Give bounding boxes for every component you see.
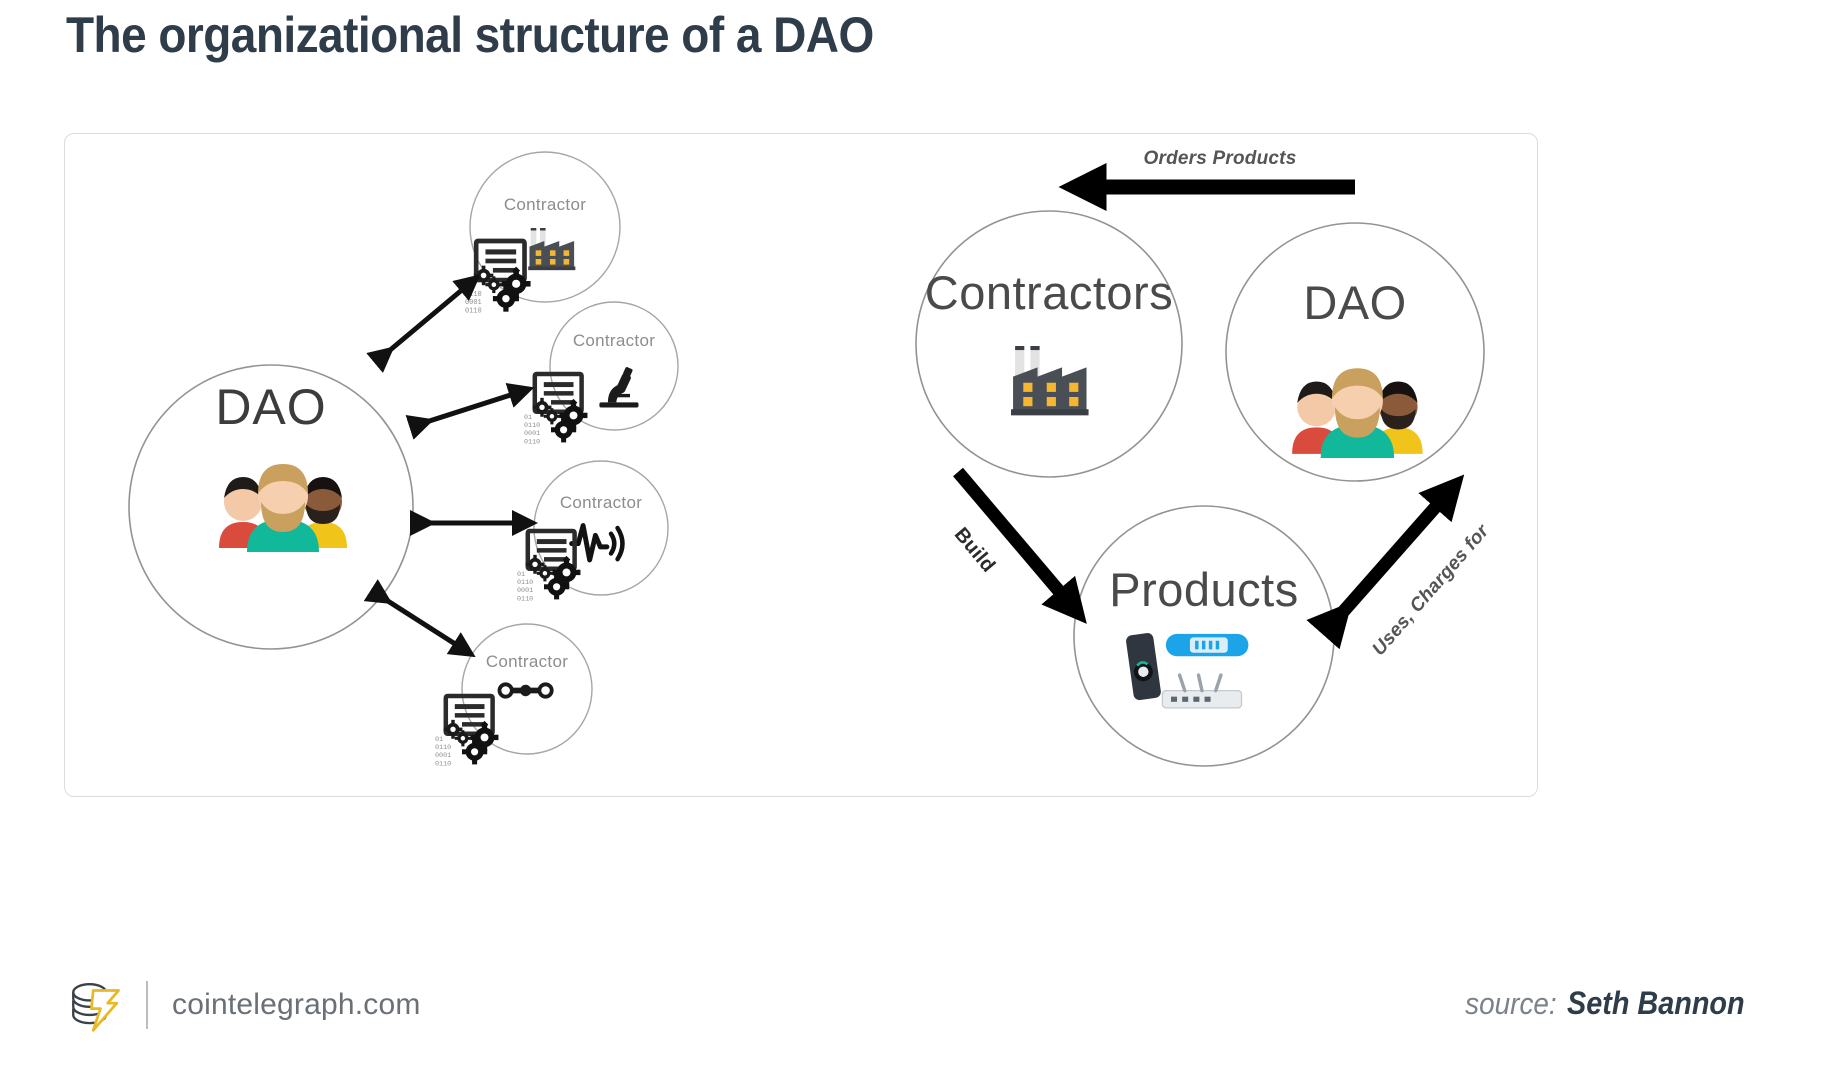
right-factory-icon: [1011, 346, 1089, 415]
car-chassis-icon-4: [499, 684, 551, 696]
uses-charges-label: Uses, Charges for: [1368, 520, 1494, 660]
diagram-canvas: 01 0110 0001 0110: [65, 134, 1539, 798]
left-contractor-label-1: Contractor: [504, 195, 586, 214]
left-contractor-node-3[interactable]: Contractor: [517, 461, 668, 603]
flow-uses-charges: Uses, Charges for: [1335, 494, 1494, 660]
smart-contract-icon-2: [524, 374, 587, 446]
factory-icon-1: [528, 228, 575, 270]
left-contractor-node-2[interactable]: Contractor: [524, 302, 678, 446]
arrow-dao-contractor-2: [420, 392, 520, 424]
left-arrows: [380, 284, 523, 649]
left-dao-people-icon: [219, 464, 347, 552]
right-dao-node[interactable]: DAO: [1226, 223, 1484, 481]
microscope-icon-2: [599, 367, 638, 408]
arrow-dao-contractor-4: [380, 596, 463, 649]
footer: cointelegraph.com source: Seth Bannon: [0, 955, 1828, 1065]
infographic-page: The organizational structure of a DAO: [0, 0, 1828, 1080]
right-products-node[interactable]: Products: [1074, 506, 1334, 766]
cointelegraph-coin-bolt-logo: [66, 976, 124, 1034]
arrow-dao-contractor-1: [383, 284, 469, 356]
source-block: source: Seth Bannon: [1455, 985, 1764, 1022]
brand-url[interactable]: cointelegraph.com: [172, 988, 421, 1022]
signal-icon-3: [572, 526, 623, 560]
right-dao-label: DAO: [1303, 276, 1406, 329]
source-name: Seth Bannon: [1567, 985, 1745, 1022]
right-diagram: Contractors DAO Products: [916, 148, 1494, 766]
footer-divider: [146, 981, 148, 1029]
brand-block[interactable]: cointelegraph.com: [66, 973, 421, 1037]
left-contractor-label-4: Contractor: [486, 652, 568, 671]
right-contractors-node[interactable]: Contractors: [916, 211, 1182, 477]
page-title: The organizational structure of a DAO: [66, 6, 874, 64]
diagram-card: 01 0110 0001 0110: [64, 133, 1538, 797]
left-contractor-label-2: Contractor: [573, 331, 655, 350]
right-products-label: Products: [1109, 563, 1298, 616]
build-label: Build: [950, 524, 1000, 577]
right-contractors-label: Contractors: [925, 266, 1173, 319]
flow-orders-products: Orders Products: [1087, 148, 1355, 187]
orders-products-label: Orders Products: [1144, 148, 1297, 169]
left-diagram: DAO Contractor: [129, 152, 678, 768]
left-contractor-node-1[interactable]: Contractor: [465, 152, 620, 316]
left-dao-label: DAO: [215, 379, 326, 435]
flow-build: Build: [950, 472, 1070, 604]
source-label: source:: [1465, 986, 1557, 1022]
smart-contract-icon-4: [435, 696, 498, 768]
smart-contract-icon-1: [465, 241, 531, 316]
right-dao-people-icon: [1292, 368, 1423, 458]
iot-devices-icon: [1125, 632, 1248, 708]
left-contractor-label-3: Contractor: [560, 493, 642, 512]
left-dao-node[interactable]: DAO: [129, 365, 413, 649]
